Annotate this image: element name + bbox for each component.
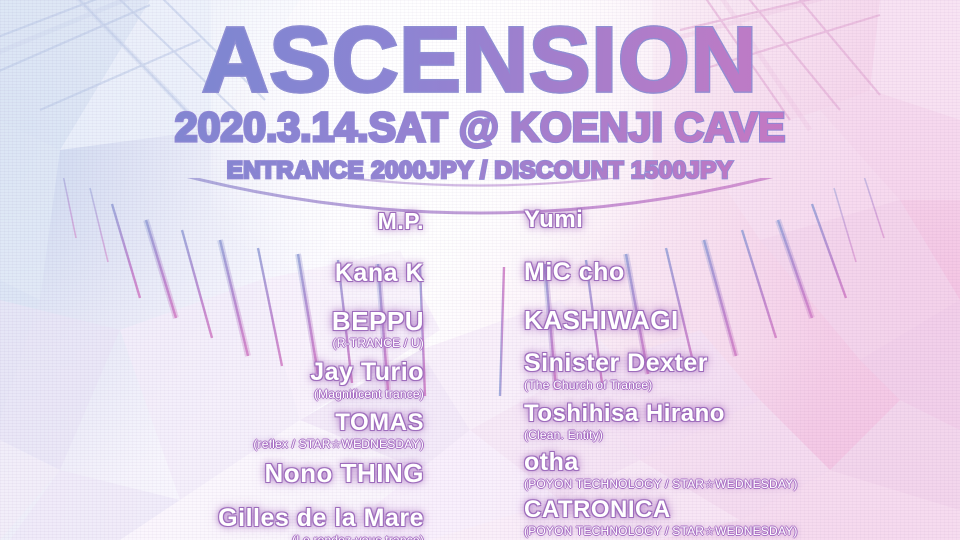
act-name: CATRONICA xyxy=(524,498,960,522)
lineup-column-right: YumiMiC choKASHIWAGISinister Dexter(The … xyxy=(524,196,960,538)
act-crew: (R-TRANCE / U) xyxy=(0,337,424,350)
act-name: BEPPU xyxy=(0,308,424,334)
lineup-act: Sinister Dexter(The Church of Trance) xyxy=(524,351,960,392)
act-name: MiC cho xyxy=(524,260,960,285)
lineup-act: otha(POYON TECHNOLOGY / STAR☆WEDNESDAY) xyxy=(524,450,960,491)
headline-block: ASCENSION ASCENSION ASCENSION ASCENSION … xyxy=(0,0,960,187)
event-title: ASCENSION ASCENSION ASCENSION ASCENSION … xyxy=(0,0,960,108)
flyer-canvas: ASCENSION ASCENSION ASCENSION ASCENSION … xyxy=(0,0,960,540)
lineup-block: M.P.Kana KBEPPU(R-TRANCE / U)Jay Turio(M… xyxy=(0,196,960,540)
act-crew: (POYON TECHNOLOGY / STAR☆WEDNESDAY) xyxy=(524,525,960,538)
lineup-act: Nono THING xyxy=(0,460,424,486)
lineup-act: Kana K xyxy=(0,261,424,286)
act-name: Sinister Dexter xyxy=(524,351,960,376)
event-price: ENTRANCE 2000JPY / DISCOUNT 1500JPY ENTR… xyxy=(0,157,960,187)
event-price-gradient: ENTRANCE 2000JPY / DISCOUNT 1500JPY xyxy=(0,157,960,186)
act-name: Yumi xyxy=(524,208,960,232)
lineup-act: M.P. xyxy=(0,210,424,233)
lineup-act: CATRONICA(POYON TECHNOLOGY / STAR☆WEDNES… xyxy=(524,498,960,538)
act-name: Nono THING xyxy=(0,460,424,486)
act-crew: (The Church of Trance) xyxy=(524,379,960,392)
act-name: otha xyxy=(524,450,960,475)
act-name: TOMAS xyxy=(0,411,424,435)
lineup-act: MiC cho xyxy=(524,260,960,285)
act-crew: (Clean. Entity) xyxy=(524,429,960,442)
act-name: Kana K xyxy=(0,261,424,286)
act-name: KASHIWAGI xyxy=(524,307,960,333)
act-name: Toshihisa Hirano xyxy=(524,402,960,426)
lineup-act: BEPPU(R-TRANCE / U) xyxy=(0,308,424,350)
lineup-act: TOMAS(reflex / STAR☆WEDNESDAY) xyxy=(0,411,424,451)
event-title-edge: ASCENSION xyxy=(0,0,960,106)
event-date-venue-gradient: 2020.3.14.SAT @ KOENJI CAVE xyxy=(0,104,960,151)
act-name: Jay Turio xyxy=(0,360,424,385)
act-crew: (POYON TECHNOLOGY / STAR☆WEDNESDAY) xyxy=(524,478,960,491)
act-crew: (Magnificent trance) xyxy=(0,388,424,401)
event-date-venue: 2020.3.14.SAT @ KOENJI CAVE 2020.3.14.SA… xyxy=(0,104,960,152)
act-name: M.P. xyxy=(0,210,424,233)
lineup-act: Jay Turio(Magnificent trance) xyxy=(0,360,424,401)
act-crew: (Le rendez-vous trance) xyxy=(0,534,424,540)
lineup-act: Gilles de la Mare(Le rendez-vous trance) xyxy=(0,506,424,540)
lineup-act: KASHIWAGI xyxy=(524,307,960,333)
lineup-column-left: M.P.Kana KBEPPU(R-TRANCE / U)Jay Turio(M… xyxy=(0,196,424,540)
lineup-act: Toshihisa Hirano(Clean. Entity) xyxy=(524,402,960,442)
act-name: Gilles de la Mare xyxy=(0,506,424,531)
lineup-act: Yumi xyxy=(524,208,960,232)
act-crew: (reflex / STAR☆WEDNESDAY) xyxy=(0,438,424,451)
